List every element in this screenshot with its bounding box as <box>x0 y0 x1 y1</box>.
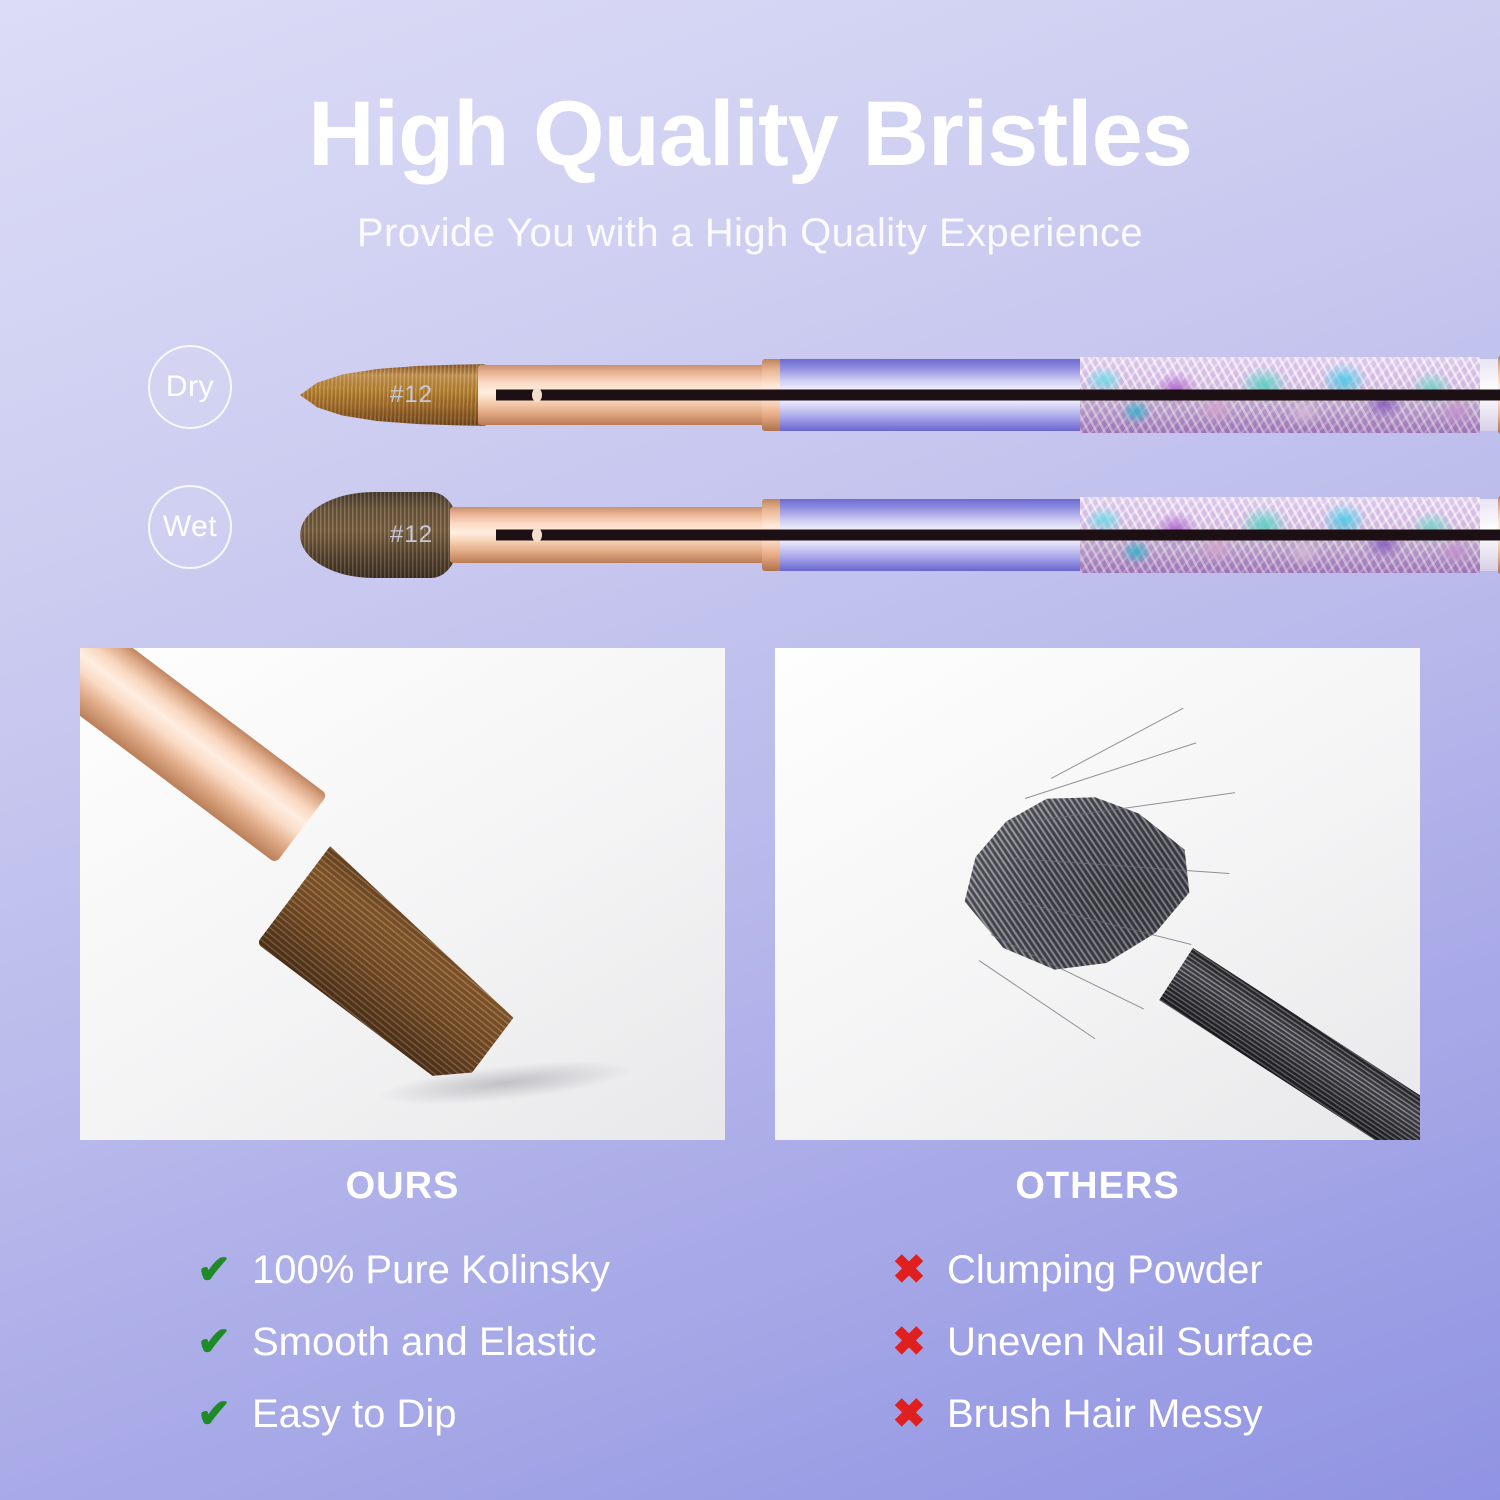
list-item-label: Uneven Nail Surface <box>947 1320 1314 1365</box>
brush-illustration-dry: #12 <box>300 340 1410 450</box>
cross-icon: ✖ <box>885 1322 933 1362</box>
state-badge-wet-label: Wet <box>163 510 217 544</box>
check-icon: ✔ <box>190 1250 238 1290</box>
others-brush-photo <box>775 648 1420 1140</box>
brush-illustration-wet: #12 <box>300 480 1410 590</box>
list-item: ✔ Easy to Dip <box>190 1378 725 1450</box>
others-brush-shaft <box>1159 948 1420 1140</box>
list-item: ✔ Smooth and Elastic <box>190 1306 725 1378</box>
stray-hair-icon <box>979 960 1096 1039</box>
list-item-label: Clumping Powder <box>947 1248 1263 1293</box>
ours-feature-list: ✔ 100% Pure Kolinsky ✔ Smooth and Elasti… <box>80 1234 725 1450</box>
header-block: High Quality Bristles Provide You with a… <box>0 86 1500 256</box>
comparison-column-ours: OURS ✔ 100% Pure Kolinsky ✔ Smooth and E… <box>80 1165 725 1450</box>
ours-rose-gold-handle <box>80 648 328 863</box>
list-item-label: Easy to Dip <box>252 1392 457 1437</box>
list-item-label: Brush Hair Messy <box>947 1392 1263 1437</box>
list-item-label: Smooth and Elastic <box>252 1320 597 1365</box>
stripe-notch-dry <box>532 388 542 402</box>
handle-size-label-wet: #12 <box>390 521 433 549</box>
ours-heading: OURS <box>80 1165 725 1208</box>
ours-photo-canvas <box>80 648 725 1140</box>
center-stripe-dry <box>496 390 1500 401</box>
brush-row-wet: Wet #12 <box>0 480 1500 590</box>
stray-hair-icon <box>1025 742 1196 799</box>
page-subtitle: Provide You with a High Quality Experien… <box>0 211 1500 256</box>
list-item-label: 100% Pure Kolinsky <box>252 1248 610 1293</box>
list-item: ✖ Uneven Nail Surface <box>885 1306 1420 1378</box>
handle-size-label-dry: #12 <box>390 381 433 409</box>
bristle-head-wet-icon <box>300 492 460 578</box>
page-title: High Quality Bristles <box>0 86 1500 183</box>
others-photo-canvas <box>775 648 1420 1140</box>
state-badge-dry: Dry <box>148 345 232 429</box>
stripe-notch-wet <box>532 528 542 542</box>
list-item: ✔ 100% Pure Kolinsky <box>190 1234 725 1306</box>
state-badge-dry-label: Dry <box>166 370 214 404</box>
brush-row-dry: Dry #12 <box>0 340 1500 450</box>
product-infographic: High Quality Bristles Provide You with a… <box>0 0 1500 1500</box>
list-item: ✖ Brush Hair Messy <box>885 1378 1420 1450</box>
cross-icon: ✖ <box>885 1250 933 1290</box>
state-badge-wet: Wet <box>148 485 232 569</box>
ours-kolinsky-bristle-tip <box>257 846 530 1094</box>
check-icon: ✔ <box>190 1394 238 1434</box>
center-stripe-wet <box>496 530 1500 541</box>
others-heading: OTHERS <box>775 1165 1420 1208</box>
cross-icon: ✖ <box>885 1394 933 1434</box>
list-item: ✖ Clumping Powder <box>885 1234 1420 1306</box>
others-feature-list: ✖ Clumping Powder ✖ Uneven Nail Surface … <box>775 1234 1420 1450</box>
ours-brush-photo <box>80 648 725 1140</box>
comparison-column-others: OTHERS ✖ Clumping Powder ✖ Uneven Nail S… <box>775 1165 1420 1450</box>
check-icon: ✔ <box>190 1322 238 1362</box>
